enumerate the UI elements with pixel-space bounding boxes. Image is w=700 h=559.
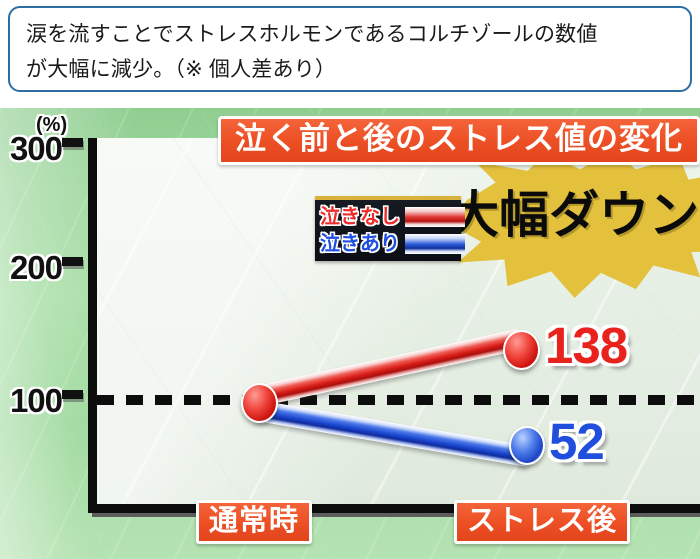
chart-panel: (%) 300 200 100 138 52: [0, 108, 700, 559]
legend-swatch-blue: [405, 234, 465, 254]
value-label-red: 138: [545, 320, 627, 371]
y-tick-label-100: 100: [10, 384, 62, 417]
annotation-starburst: 大幅ダウン！: [449, 150, 700, 298]
legend-label-no-crying: 泣きなし: [320, 207, 400, 227]
chart-title: 泣く前と後のストレス値の変化: [218, 116, 700, 165]
legend-swatch-red: [405, 207, 465, 227]
caption-line-2: が大幅に減少。（※ 個人差あり）: [26, 52, 676, 87]
data-point-red-end[interactable]: [503, 330, 540, 370]
reference-line-100: [97, 395, 700, 405]
starburst-text: 大幅ダウン！: [449, 190, 700, 240]
data-point-blue-end[interactable]: [509, 426, 545, 465]
y-axis: 300 200 100: [0, 108, 88, 518]
caption-line-1: 涙を流すことでストレスホルモンであるコルチゾールの数値: [26, 17, 676, 52]
y-tick-label-200: 200: [10, 251, 62, 284]
y-tick-mark-200: [62, 257, 83, 266]
legend-item-crying[interactable]: 泣きあり: [320, 230, 456, 257]
x-category-label-after-stress: ストレス後: [454, 500, 630, 544]
y-tick-mark-100: [62, 390, 83, 399]
y-tick-label-300: 300: [10, 132, 62, 165]
data-point-start[interactable]: [241, 383, 278, 423]
caption-box: 涙を流すことでストレスホルモンであるコルチゾールの数値 が大幅に減少。（※ 個人…: [8, 6, 692, 92]
y-tick-mark-300: [62, 138, 83, 147]
legend-item-no-crying[interactable]: 泣きなし: [320, 203, 456, 230]
legend-label-crying: 泣きあり: [320, 234, 400, 254]
plot-area: 138 52 大幅ダウン！ 泣きなし 泣きあり: [88, 138, 700, 513]
value-label-blue: 52: [549, 416, 604, 467]
x-category-label-normal: 通常時: [196, 500, 312, 544]
chart-legend: 泣きなし 泣きあり: [315, 196, 461, 261]
